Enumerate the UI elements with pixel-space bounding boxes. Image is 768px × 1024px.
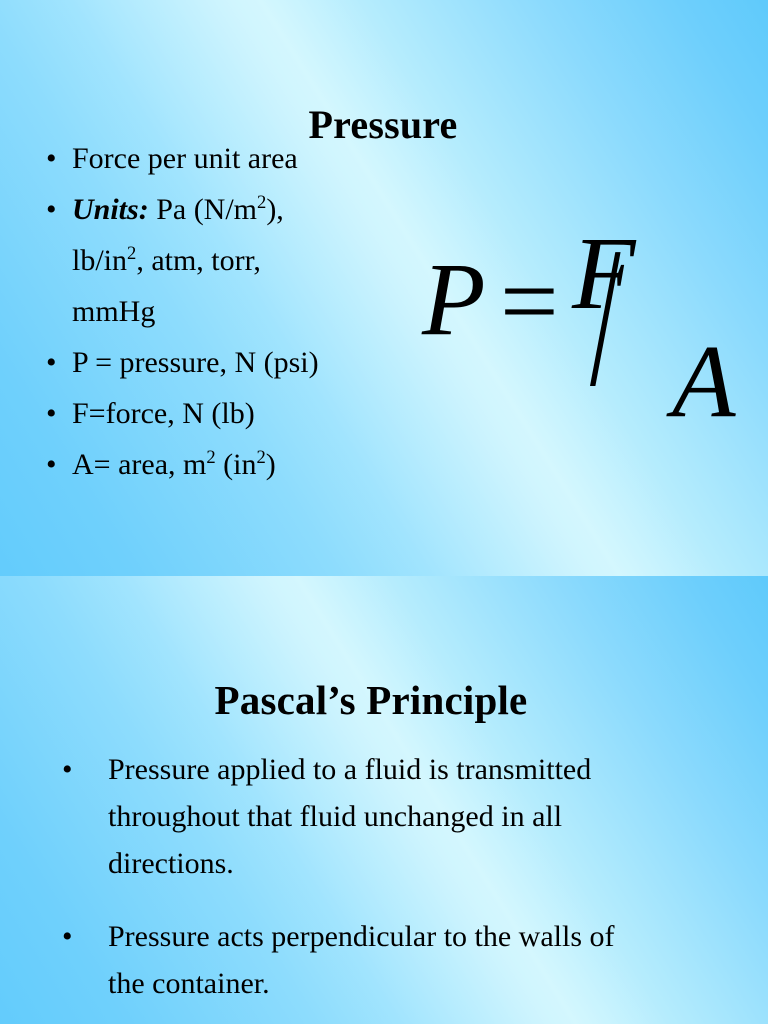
list-item: • P = pressure, N (psi) (34, 337, 434, 388)
units-value-c: lb/in (72, 244, 127, 277)
area-text-c: ) (266, 448, 276, 481)
list-item: • F=force, N (lb) (34, 388, 434, 439)
units-value-b: ), (266, 193, 284, 226)
units-label: Units: (72, 193, 149, 226)
slide-pressure: Pressure • Force per unit area • Units: … (0, 0, 768, 576)
bullet-icon: • (46, 439, 57, 490)
list-item: • Units: Pa (N/m2),lb/in2, atm, torr,mmH… (34, 184, 434, 337)
list-item: • A= area, m2 (in2) (34, 439, 434, 490)
bullet-icon: • (62, 913, 73, 960)
list-item-label: Pressure applied to a fluid is transmitt… (108, 746, 650, 887)
page-title: Pascal’s Principle (0, 675, 755, 725)
exponent: 2 (256, 447, 265, 468)
pressure-formula: P = F / A (420, 222, 750, 452)
bullet-list-pressure: • Force per unit area • Units: Pa (N/m2)… (34, 133, 434, 490)
formula-slash-icon: / (590, 218, 621, 418)
list-item: • Pressure acts perpendicular to the wal… (50, 913, 650, 1007)
bullet-icon: • (46, 388, 57, 439)
list-item-label: F=force, N (lb) (72, 388, 434, 439)
bullet-icon: • (46, 337, 57, 388)
list-item-label: Force per unit area (72, 133, 434, 184)
units-value-d: , atm, torr, (136, 244, 261, 277)
list-item-label: P = pressure, N (psi) (72, 337, 434, 388)
formula-denominator-a: A (672, 330, 736, 434)
list-item-label: Pressure acts perpendicular to the walls… (108, 913, 650, 1007)
units-value-a: Pa (N/m (149, 193, 257, 226)
exponent: 2 (206, 447, 215, 468)
slide-pascals-principle: Pascal’s Principle • Pressure applied to… (0, 576, 768, 1024)
formula-variable-p: P (422, 248, 486, 352)
area-text-a: A= area, m (72, 448, 206, 481)
exponent: 2 (127, 243, 136, 264)
list-item: • Pressure applied to a fluid is transmi… (50, 746, 650, 887)
bullet-list-pascal: • Pressure applied to a fluid is transmi… (50, 746, 650, 1007)
formula-equals-sign: = (500, 250, 559, 354)
bullet-icon: • (62, 746, 73, 793)
units-value-e: mmHg (72, 295, 155, 328)
list-item-label: Units: Pa (N/m2),lb/in2, atm, torr,mmHg (72, 184, 434, 337)
bullet-icon: • (46, 133, 57, 184)
slide-deck: Pressure • Force per unit area • Units: … (0, 0, 768, 1024)
exponent: 2 (257, 192, 266, 213)
list-item-label: A= area, m2 (in2) (72, 439, 434, 490)
area-text-b: (in (216, 448, 257, 481)
bullet-icon: • (46, 184, 57, 235)
list-item: • Force per unit area (34, 133, 434, 184)
